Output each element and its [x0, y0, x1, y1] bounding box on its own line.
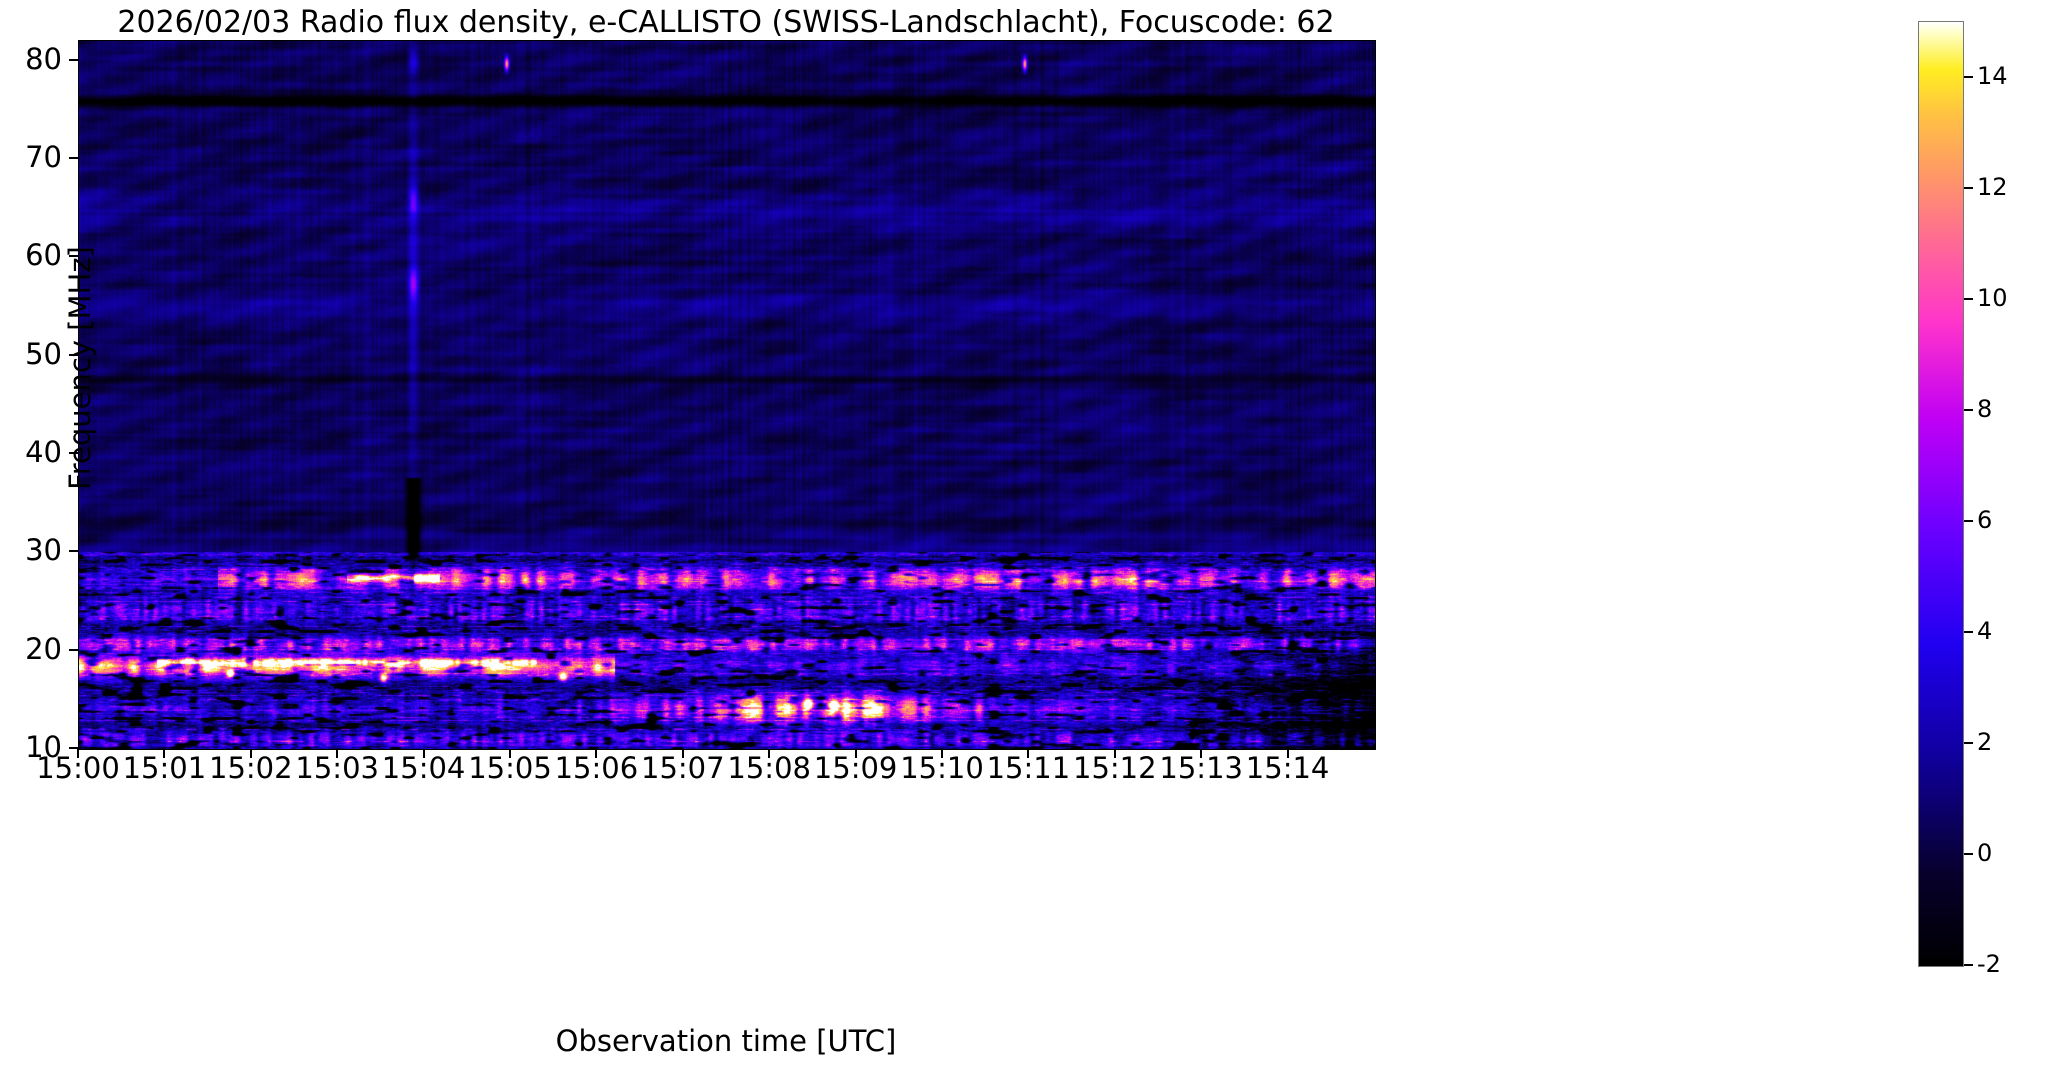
x-axis-label: Observation time [UTC] — [78, 1021, 1374, 1061]
y-tick-label: 80 — [0, 45, 62, 74]
y-tick-label: 50 — [0, 340, 62, 369]
x-tick-mark — [682, 749, 684, 758]
colorbar-tick-mark — [1964, 964, 1973, 966]
x-tick-mark — [163, 749, 165, 758]
y-tick-mark — [69, 157, 78, 159]
x-tick-mark — [509, 749, 511, 758]
colorbar-tick-label: 4 — [1977, 619, 2037, 643]
y-tick-mark — [69, 255, 78, 257]
colorbar-tick-mark — [1964, 409, 1973, 411]
colorbar-tick-label: -2 — [1977, 952, 2037, 976]
y-axis-label: Frequency [MHz] — [60, 14, 100, 722]
colorbar-tick-label: 6 — [1977, 508, 2037, 532]
y-tick-label: 40 — [0, 438, 62, 467]
colorbar-tick-mark — [1964, 853, 1973, 855]
x-tick-mark — [768, 749, 770, 758]
y-tick-mark — [69, 59, 78, 61]
x-tick-mark — [336, 749, 338, 758]
colorbar-tick-label: 14 — [1977, 64, 2037, 88]
colorbar-tick-label: 10 — [1977, 286, 2037, 310]
colorbar-tick-label: 8 — [1977, 397, 2037, 421]
x-tick-mark — [855, 749, 857, 758]
x-tick-mark — [423, 749, 425, 758]
colorbar-tick-mark — [1964, 76, 1973, 78]
y-tick-mark — [69, 649, 78, 651]
x-tick-mark — [77, 749, 79, 758]
colorbar-tick-label: 2 — [1977, 730, 2037, 754]
colorbar-tick-mark — [1964, 631, 1973, 633]
x-tick-mark — [1027, 749, 1029, 758]
y-tick-mark — [69, 452, 78, 454]
y-tick-mark — [69, 550, 78, 552]
y-tick-label: 20 — [0, 635, 62, 664]
x-tick-mark — [941, 749, 943, 758]
x-tick-label: 15:14 — [1213, 754, 1363, 783]
colorbar-tick-label: 12 — [1977, 175, 2037, 199]
colorbar-tick-mark — [1964, 520, 1973, 522]
spectrogram-panel — [78, 40, 1376, 750]
colorbar-tick-mark — [1964, 187, 1973, 189]
colorbar-tick-mark — [1964, 742, 1973, 744]
figure-root: 2026/02/03 Radio flux density, e-CALLIST… — [0, 0, 2047, 1067]
page-title: 2026/02/03 Radio flux density, e-CALLIST… — [78, 4, 1374, 40]
x-tick-mark — [1287, 749, 1289, 758]
x-tick-mark — [595, 749, 597, 758]
y-tick-label: 70 — [0, 143, 62, 172]
colorbar-tick-label: 0 — [1977, 841, 2037, 865]
x-tick-mark — [1114, 749, 1116, 758]
spectrogram-canvas — [79, 41, 1375, 749]
colorbar-gradient — [1919, 22, 1963, 966]
colorbar — [1918, 21, 1964, 967]
y-tick-label: 60 — [0, 241, 62, 270]
y-tick-label: 30 — [0, 536, 62, 565]
colorbar-tick-mark — [1964, 298, 1973, 300]
x-tick-mark — [250, 749, 252, 758]
y-tick-mark — [69, 354, 78, 356]
x-tick-mark — [1200, 749, 1202, 758]
